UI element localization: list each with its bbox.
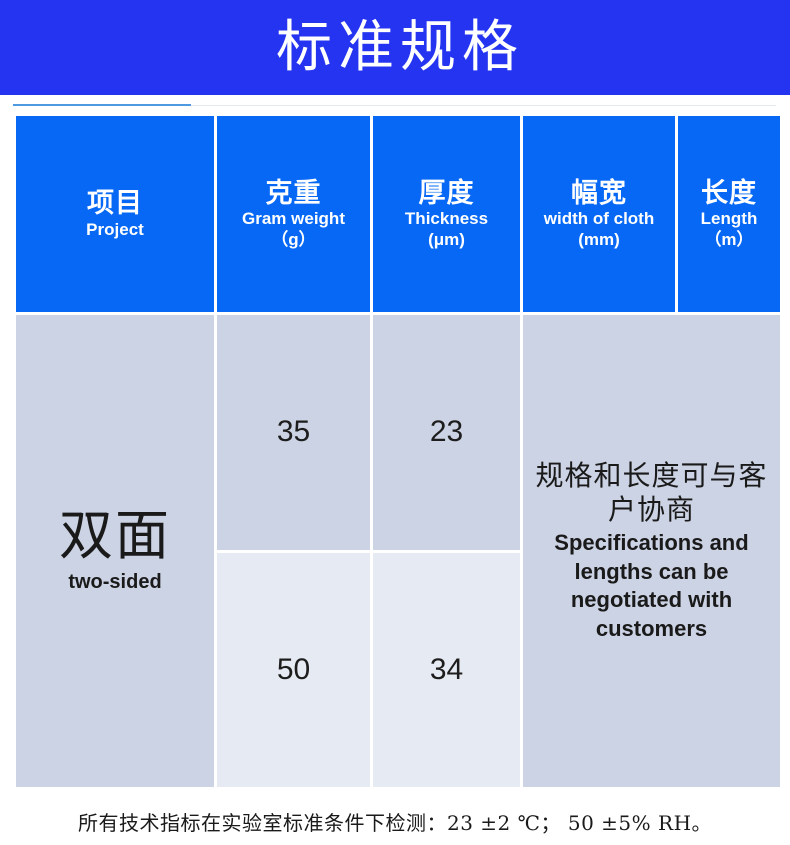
footer: 所有技术指标在实验室标准条件下检测：23 ±2 ℃； 50 ±5% RH。 (0, 793, 790, 836)
header-cn-length: 长度 (678, 178, 780, 208)
item-label-en: two-sided (16, 571, 214, 594)
cell-gram-weight-row2: 50 (217, 553, 370, 788)
header-cn-project: 项目 (16, 188, 214, 218)
header-cell-project: 项目 Project (16, 116, 214, 312)
header-unit-gram-weight: （g） (217, 230, 370, 250)
underline-faint-segment (191, 105, 776, 106)
specification-table-container: 项目 Project 克重 Gram weight （g） 厚度 Thickne… (0, 113, 790, 793)
header-cn-width-of-cloth: 幅宽 (523, 178, 675, 208)
table-header-row: 项目 Project 克重 Gram weight （g） 厚度 Thickne… (16, 116, 780, 312)
item-label-cn: 双面 (16, 508, 214, 565)
note-text-en: Specifications and lengths can be negoti… (523, 529, 780, 643)
header-en-project: Project (16, 220, 214, 240)
note-text-cn: 规格和长度可与客户协商 (523, 459, 780, 527)
footer-note: 所有技术指标在实验室标准条件下检测：23 ±2 ℃； 50 ±5% RH。 (78, 811, 712, 835)
header-en-thickness: Thickness (373, 209, 520, 229)
cell-item-two-sided: 双面 two-sided (16, 315, 214, 787)
table-row: 双面 two-sided 35 23 规格和长度可与客户协商 Specifica… (16, 315, 780, 550)
header-cell-length: 长度 Length （m） (678, 116, 780, 312)
header-unit-thickness: (μm) (373, 230, 520, 250)
banner-underline (0, 95, 790, 113)
header-cn-thickness: 厚度 (373, 178, 520, 208)
header-en-length: Length (678, 209, 780, 229)
header-cell-gram-weight: 克重 Gram weight （g） (217, 116, 370, 312)
cell-thickness-row2: 34 (373, 553, 520, 788)
cell-negotiation-note: 规格和长度可与客户协商 Specifications and lengths c… (523, 315, 780, 787)
header-unit-length: （m） (678, 230, 780, 250)
page-banner: 标准规格 (0, 0, 790, 95)
page-title: 标准规格 (266, 20, 524, 76)
cell-thickness-row1: 23 (373, 315, 520, 550)
header-en-width-of-cloth: width of cloth (523, 209, 675, 229)
header-cell-thickness: 厚度 Thickness (μm) (373, 116, 520, 312)
header-cell-width-of-cloth: 幅宽 width of cloth (mm) (523, 116, 675, 312)
header-cn-gram-weight: 克重 (217, 178, 370, 208)
header-unit-width-of-cloth: (mm) (523, 230, 675, 250)
underline-accent-segment (13, 104, 191, 106)
header-en-gram-weight: Gram weight (217, 209, 370, 229)
cell-gram-weight-row1: 35 (217, 315, 370, 550)
specification-table: 项目 Project 克重 Gram weight （g） 厚度 Thickne… (13, 113, 783, 790)
